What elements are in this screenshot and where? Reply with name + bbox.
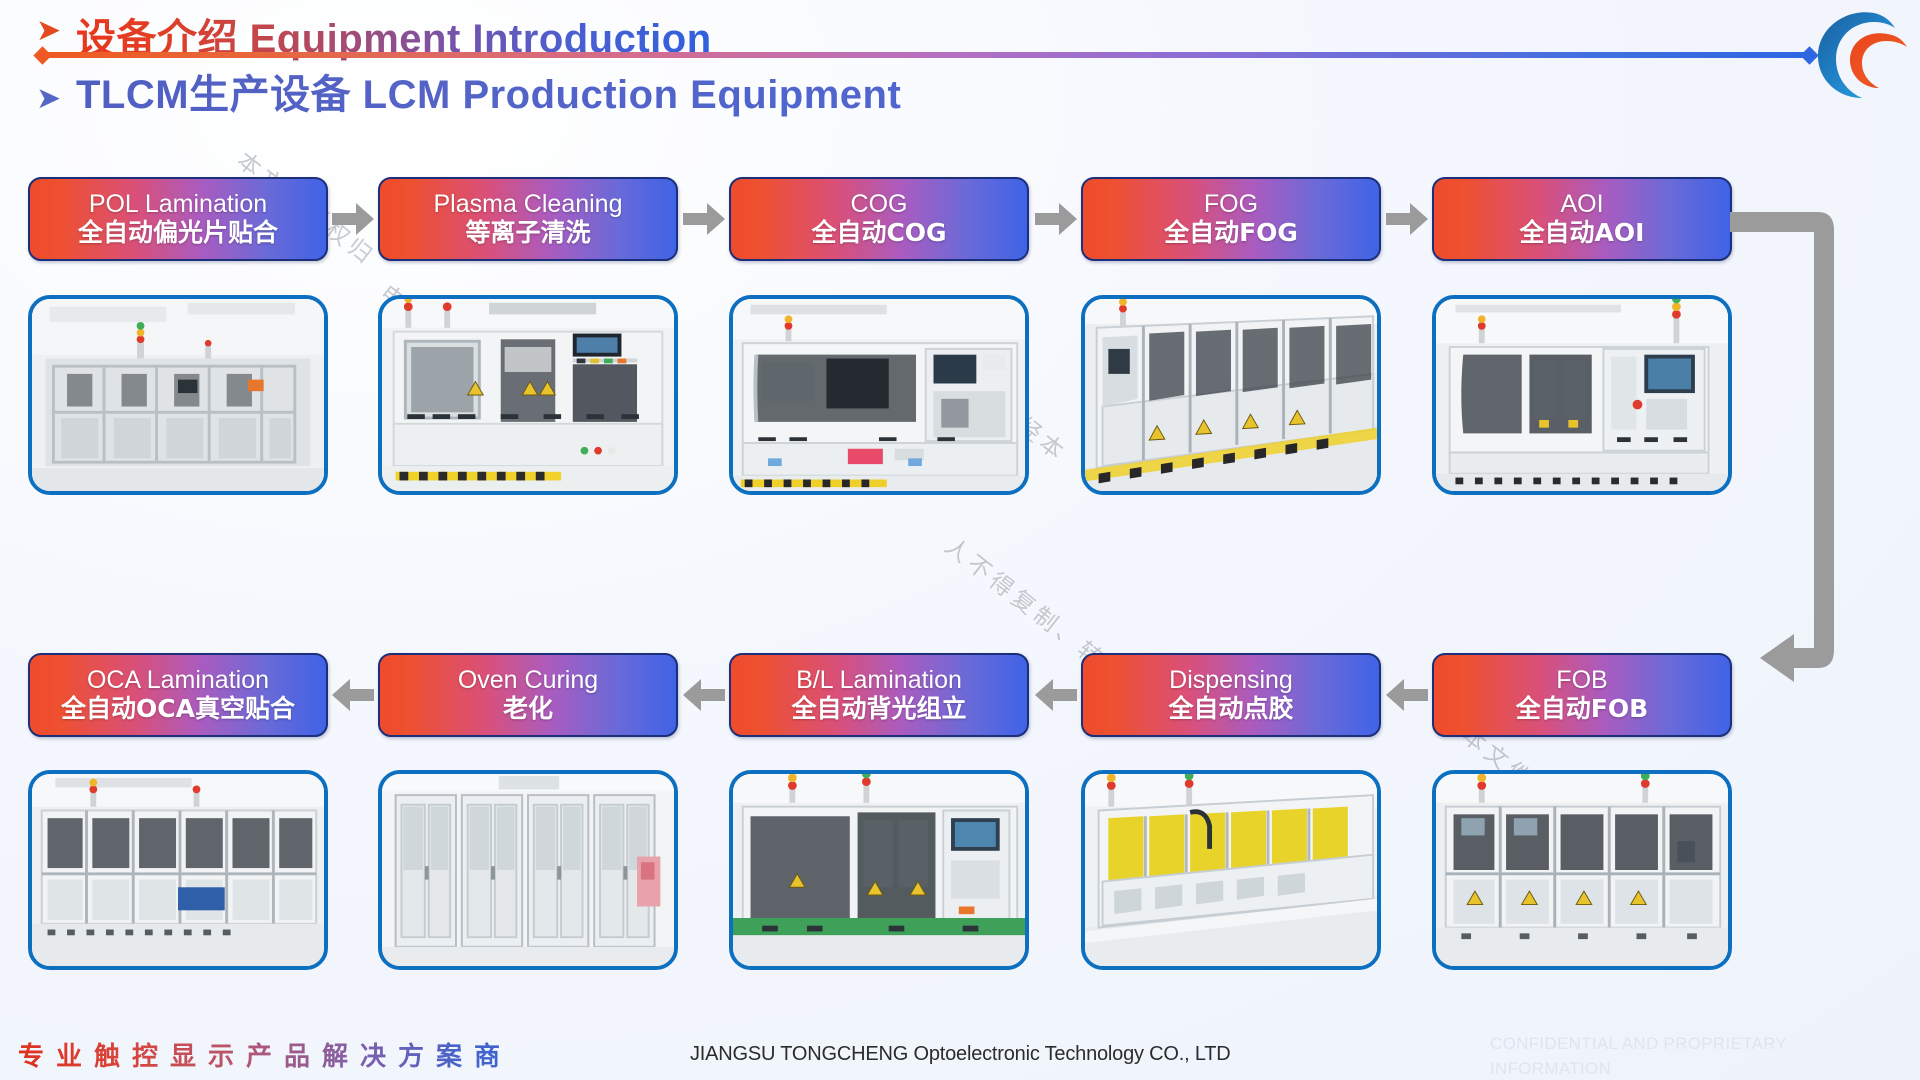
bullet-arrow-icon-2: ➤ [36,84,61,114]
process-label-en: COG [851,190,908,219]
process-label-en: B/L Lamination [796,666,962,695]
process-box-cog[interactable]: COG 全自动COG [729,177,1029,261]
bullet-arrow-icon-1: ➤ [36,16,61,46]
flow-arrow-left-2 [683,679,725,711]
process-label-cn: 全自动FOG [1164,218,1298,248]
flow-arrow-right-1 [332,203,374,235]
process-label-cn: 全自动FOB [1516,694,1648,724]
flow-arrow-right-4 [1386,203,1428,235]
process-label-cn: 全自动OCA真空贴合 [61,694,295,724]
flow-arrow-wraparound [1730,190,1860,700]
process-label-en: Dispensing [1169,666,1293,695]
process-label-cn: 全自动COG [811,218,946,248]
photo-fob-equipment [1432,770,1732,970]
process-label-en: FOB [1556,666,1607,695]
photo-pol-lamination-equipment [28,295,328,495]
process-label-en: OCA Lamination [87,666,269,695]
photo-fog-equipment [1081,295,1381,495]
process-box-fob[interactable]: FOB 全自动FOB [1432,653,1732,737]
photo-oca-lamination-equipment [28,770,328,970]
process-label-cn: 等离子清洗 [465,218,590,248]
process-box-oca-lamination[interactable]: OCA Lamination 全自动OCA真空贴合 [28,653,328,737]
process-label-en: AOI [1560,190,1603,219]
divider-diamond-left-icon [33,46,51,64]
photo-bl-lamination-equipment [729,770,1029,970]
flow-arrow-right-3 [1035,203,1077,235]
process-box-oven-curing[interactable]: Oven Curing 老化 [378,653,678,737]
footer-slogan-cn: 专业触控显示产品解决方案商 [18,1036,512,1073]
process-box-plasma-cleaning[interactable]: Plasma Cleaning 等离子清洗 [378,177,678,261]
process-label-en: Plasma Cleaning [434,190,623,219]
flow-arrow-left-1 [332,679,374,711]
slide-header: ➤ 设备介绍 Equipment Introduction ➤ TLCM生产设备… [0,0,1920,130]
tongcheng-logo-icon [1812,6,1912,102]
process-label-cn: 全自动背光组立 [791,694,966,724]
title-divider [42,52,1810,58]
photo-dispensing-equipment [1081,770,1381,970]
flow-arrow-left-4 [1386,679,1428,711]
process-label-en: POL Lamination [89,190,267,219]
process-label-cn: 老化 [503,694,553,724]
process-label-cn: 全自动AOI [1520,218,1645,248]
process-box-aoi[interactable]: AOI 全自动AOI [1432,177,1732,261]
process-box-dispensing[interactable]: Dispensing 全自动点胶 [1081,653,1381,737]
process-label-en: Oven Curing [458,666,598,695]
photo-aoi-equipment [1432,295,1732,495]
process-label-cn: 全自动点胶 [1168,694,1293,724]
photo-oven-curing-equipment [378,770,678,970]
process-box-pol-lamination[interactable]: POL Lamination 全自动偏光片贴合 [28,177,328,261]
footer-confidential-notice: CONFIDENTIAL AND PROPRIETARY INFORMATION [1490,1032,1790,1080]
process-label-en: FOG [1204,190,1258,219]
process-box-bl-lamination[interactable]: B/L Lamination 全自动背光组立 [729,653,1029,737]
photo-cog-equipment [729,295,1029,495]
flow-arrow-right-2 [683,203,725,235]
page-title-secondary: TLCM生产设备 LCM Production Equipment [76,62,901,120]
process-label-cn: 全自动偏光片贴合 [78,218,278,248]
photo-plasma-cleaning-equipment [378,295,678,495]
process-box-fog[interactable]: FOG 全自动FOG [1081,177,1381,261]
flow-arrow-left-3 [1035,679,1077,711]
footer-company-en: JIANGSU TONGCHENG Optoelectronic Technol… [690,1043,1231,1066]
